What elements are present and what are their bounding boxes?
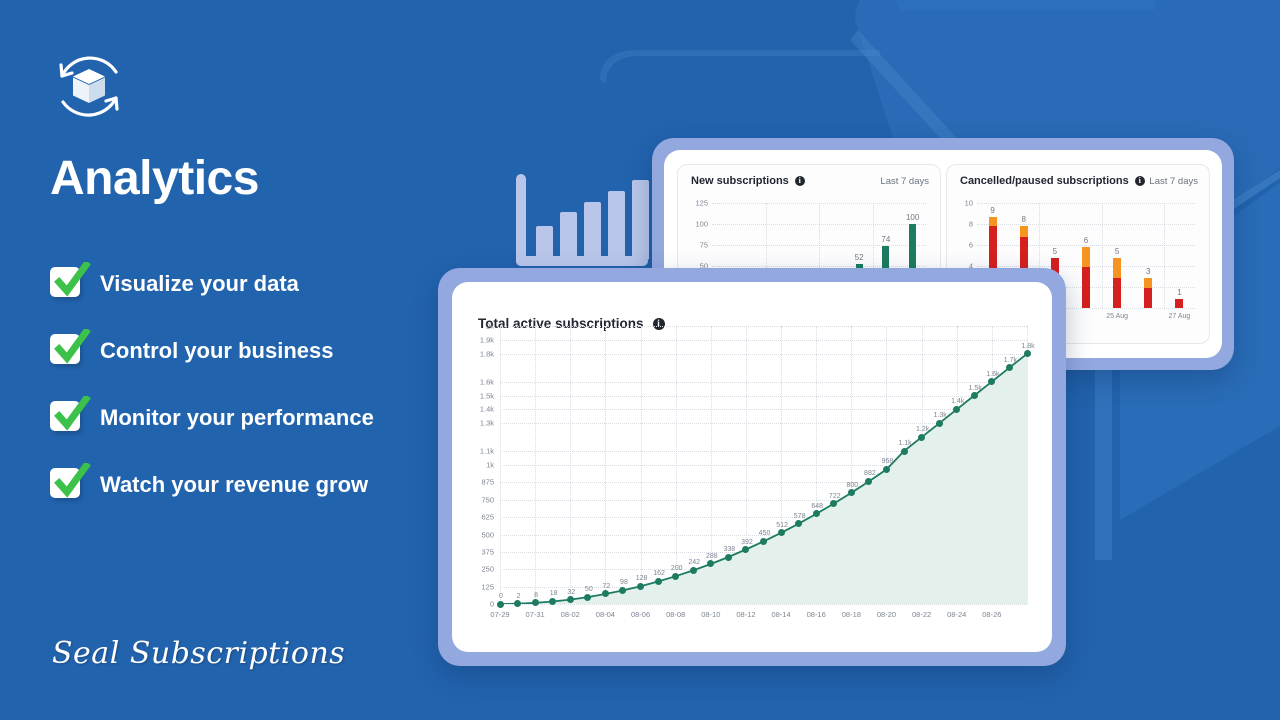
data-point-label: 968 [882, 458, 894, 465]
y-axis-tick: 125 [460, 582, 494, 591]
range-label: Last 7 days [1149, 176, 1198, 187]
data-point [584, 594, 591, 601]
data-point-label: 1.7k [1004, 357, 1017, 364]
bar-value-label: 5 [1115, 247, 1119, 256]
data-point-label: 1.6k [986, 371, 999, 378]
bar-value-label: 1 [1177, 288, 1181, 297]
panel-header: New subscriptions i Last 7 days [691, 175, 929, 187]
data-point-label: 578 [794, 513, 806, 520]
feature-label: Visualize your data [100, 271, 299, 297]
data-point-label: 0 [499, 593, 503, 600]
y-axis-tick: 1.5k [460, 391, 494, 400]
x-axis-tick: 08-26 [982, 610, 1001, 619]
bar-segment [1020, 226, 1028, 237]
data-point [532, 599, 539, 606]
brand-footer: Seal Subscriptions [52, 636, 345, 671]
feature-item: Monitor your performance [50, 384, 470, 451]
feature-item: Watch your revenue grow [50, 451, 470, 518]
gridline [500, 604, 1027, 605]
gridline [977, 224, 1195, 225]
feature-list: Visualize your data Control your busines… [50, 250, 470, 518]
data-point-label: 200 [671, 565, 683, 572]
bar-value-label: 9 [990, 206, 994, 215]
x-axis-tick: 08-10 [701, 610, 720, 619]
data-point-label: 128 [636, 575, 648, 582]
y-axis-tick: 1.9k [460, 335, 494, 344]
bar-value-label: 8 [1021, 215, 1025, 224]
feature-item: Visualize your data [50, 250, 470, 317]
y-axis-tick: 2k [460, 322, 494, 331]
bar-chart-icon [512, 168, 652, 283]
checkbox-checked-icon [50, 401, 84, 435]
bar-segment [989, 217, 997, 226]
data-point-label: 392 [741, 539, 753, 546]
checkbox-checked-icon [50, 468, 84, 502]
data-point-label: 288 [706, 553, 718, 560]
data-point-label: 32 [567, 589, 575, 596]
gridline [977, 245, 1195, 246]
x-axis-tick: 08-06 [631, 610, 650, 619]
y-axis-tick: 1.6k [460, 377, 494, 386]
gridline [1027, 326, 1028, 604]
data-point-label: 162 [653, 570, 665, 577]
bar-value-label: 5 [1053, 247, 1057, 256]
data-point [901, 448, 908, 455]
data-point [918, 434, 925, 441]
data-point-label: 882 [864, 470, 876, 477]
total-active-subscriptions-card: Total active subscriptions i 01252503755… [452, 282, 1052, 652]
main-card-bezel: Total active subscriptions i 01252503755… [438, 268, 1066, 666]
data-point-label: 18 [550, 590, 558, 597]
feature-label: Monitor your performance [100, 405, 374, 431]
bar-value-label: 74 [881, 235, 890, 244]
range-label: Last 7 days [880, 176, 929, 187]
data-point [971, 392, 978, 399]
x-axis-tick: 08-04 [596, 610, 615, 619]
bar-segment [1082, 267, 1090, 308]
y-axis-tick: 1.1k [460, 447, 494, 456]
y-axis-tick: 750 [460, 495, 494, 504]
data-point-label: 50 [585, 586, 593, 593]
y-axis-tick: 75 [686, 241, 708, 250]
data-point-label: 72 [602, 583, 610, 590]
bar-segment [1113, 258, 1121, 278]
bar-segment [1144, 278, 1152, 289]
data-point-label: 242 [688, 559, 700, 566]
x-axis-tick: 08-12 [736, 610, 755, 619]
x-axis-tick: 27 Aug [1169, 313, 1191, 320]
data-point [514, 600, 521, 607]
data-point [690, 567, 697, 574]
data-point-label: 98 [620, 579, 628, 586]
info-icon[interactable]: i [795, 176, 805, 186]
panel-title: New subscriptions [691, 175, 789, 187]
x-axis-tick: 25 Aug [1106, 313, 1128, 320]
data-point [883, 466, 890, 473]
data-point [778, 529, 785, 536]
total-active-plot: 01252503755006257508751k1.1k1.3k1.4k1.5k… [500, 326, 1027, 604]
data-point [637, 583, 644, 590]
box-refresh-icon [50, 48, 128, 126]
feature-item: Control your business [50, 317, 470, 384]
data-point-label: 450 [759, 530, 771, 537]
area-series [500, 326, 1027, 604]
bar-segment [1175, 299, 1183, 308]
data-point-label: 648 [811, 503, 823, 510]
data-point-label: 1.1k [898, 440, 911, 447]
y-axis-tick: 125 [686, 199, 708, 208]
x-axis-tick: 07-31 [526, 610, 545, 619]
y-axis-tick: 1.3k [460, 419, 494, 428]
data-point [567, 596, 574, 603]
data-point [760, 538, 767, 545]
feature-label: Control your business [100, 338, 333, 364]
y-axis-tick: 6 [951, 241, 973, 250]
data-point [725, 554, 732, 561]
x-axis-tick: 07-29 [490, 610, 509, 619]
bar-segment [1082, 247, 1090, 267]
y-axis-tick: 500 [460, 530, 494, 539]
checkbox-checked-icon [50, 267, 84, 301]
data-point [936, 420, 943, 427]
bar-value-label: 6 [1084, 236, 1088, 245]
bar-segment [1144, 288, 1152, 308]
data-point-label: 2 [517, 593, 521, 600]
data-point-label: 1.4k [951, 398, 964, 405]
bar-segment [1113, 278, 1121, 308]
data-point [1024, 350, 1031, 357]
x-axis-tick: 08-24 [947, 610, 966, 619]
gridline [1164, 203, 1165, 308]
info-icon[interactable]: i [1135, 176, 1145, 186]
x-axis-tick: 08-22 [912, 610, 931, 619]
data-point-label: 8 [534, 592, 538, 599]
y-axis-tick: 1.4k [460, 405, 494, 414]
y-axis-tick: 625 [460, 513, 494, 522]
data-point-label: 1.5k [969, 385, 982, 392]
left-marketing-panel: Analytics Visualize your data Control yo… [0, 0, 470, 720]
x-axis-tick: 08-18 [842, 610, 861, 619]
feature-label: Watch your revenue grow [100, 472, 368, 498]
data-point [655, 578, 662, 585]
x-axis-tick: 08-20 [877, 610, 896, 619]
y-axis-tick: 0 [460, 600, 494, 609]
y-axis-tick: 875 [460, 478, 494, 487]
data-point [672, 573, 679, 580]
y-axis-tick: 1k [460, 461, 494, 470]
x-axis-tick: 08-08 [666, 610, 685, 619]
y-axis-tick: 375 [460, 547, 494, 556]
bar-value-label: 100 [906, 213, 919, 222]
panel-title: Cancelled/paused subscriptions [960, 175, 1129, 187]
bar-value-label: 52 [855, 253, 864, 262]
y-axis-tick: 100 [686, 220, 708, 229]
data-point-label: 1.3k [934, 412, 947, 419]
x-axis-tick: 08-02 [561, 610, 580, 619]
page-title: Analytics [50, 155, 259, 203]
data-point-label: 1.2k [916, 426, 929, 433]
y-axis-tick: 8 [951, 220, 973, 229]
x-axis-tick: 08-14 [771, 610, 790, 619]
checkbox-checked-icon [50, 334, 84, 368]
data-point-label: 800 [846, 482, 858, 489]
bar-value-label: 3 [1146, 267, 1150, 276]
data-point-label: 338 [724, 546, 736, 553]
data-point-label: 512 [776, 522, 788, 529]
x-axis-tick: 08-16 [807, 610, 826, 619]
panel-header: Cancelled/paused subscriptions i Last 7 … [960, 175, 1198, 187]
data-point-label: 1.8k [1021, 343, 1034, 350]
y-axis-tick: 10 [951, 199, 973, 208]
data-point-label: 722 [829, 493, 841, 500]
y-axis-tick: 250 [460, 565, 494, 574]
data-point [497, 601, 504, 608]
gridline [977, 203, 1195, 204]
y-axis-tick: 1.8k [460, 349, 494, 358]
gridline [1102, 203, 1103, 308]
